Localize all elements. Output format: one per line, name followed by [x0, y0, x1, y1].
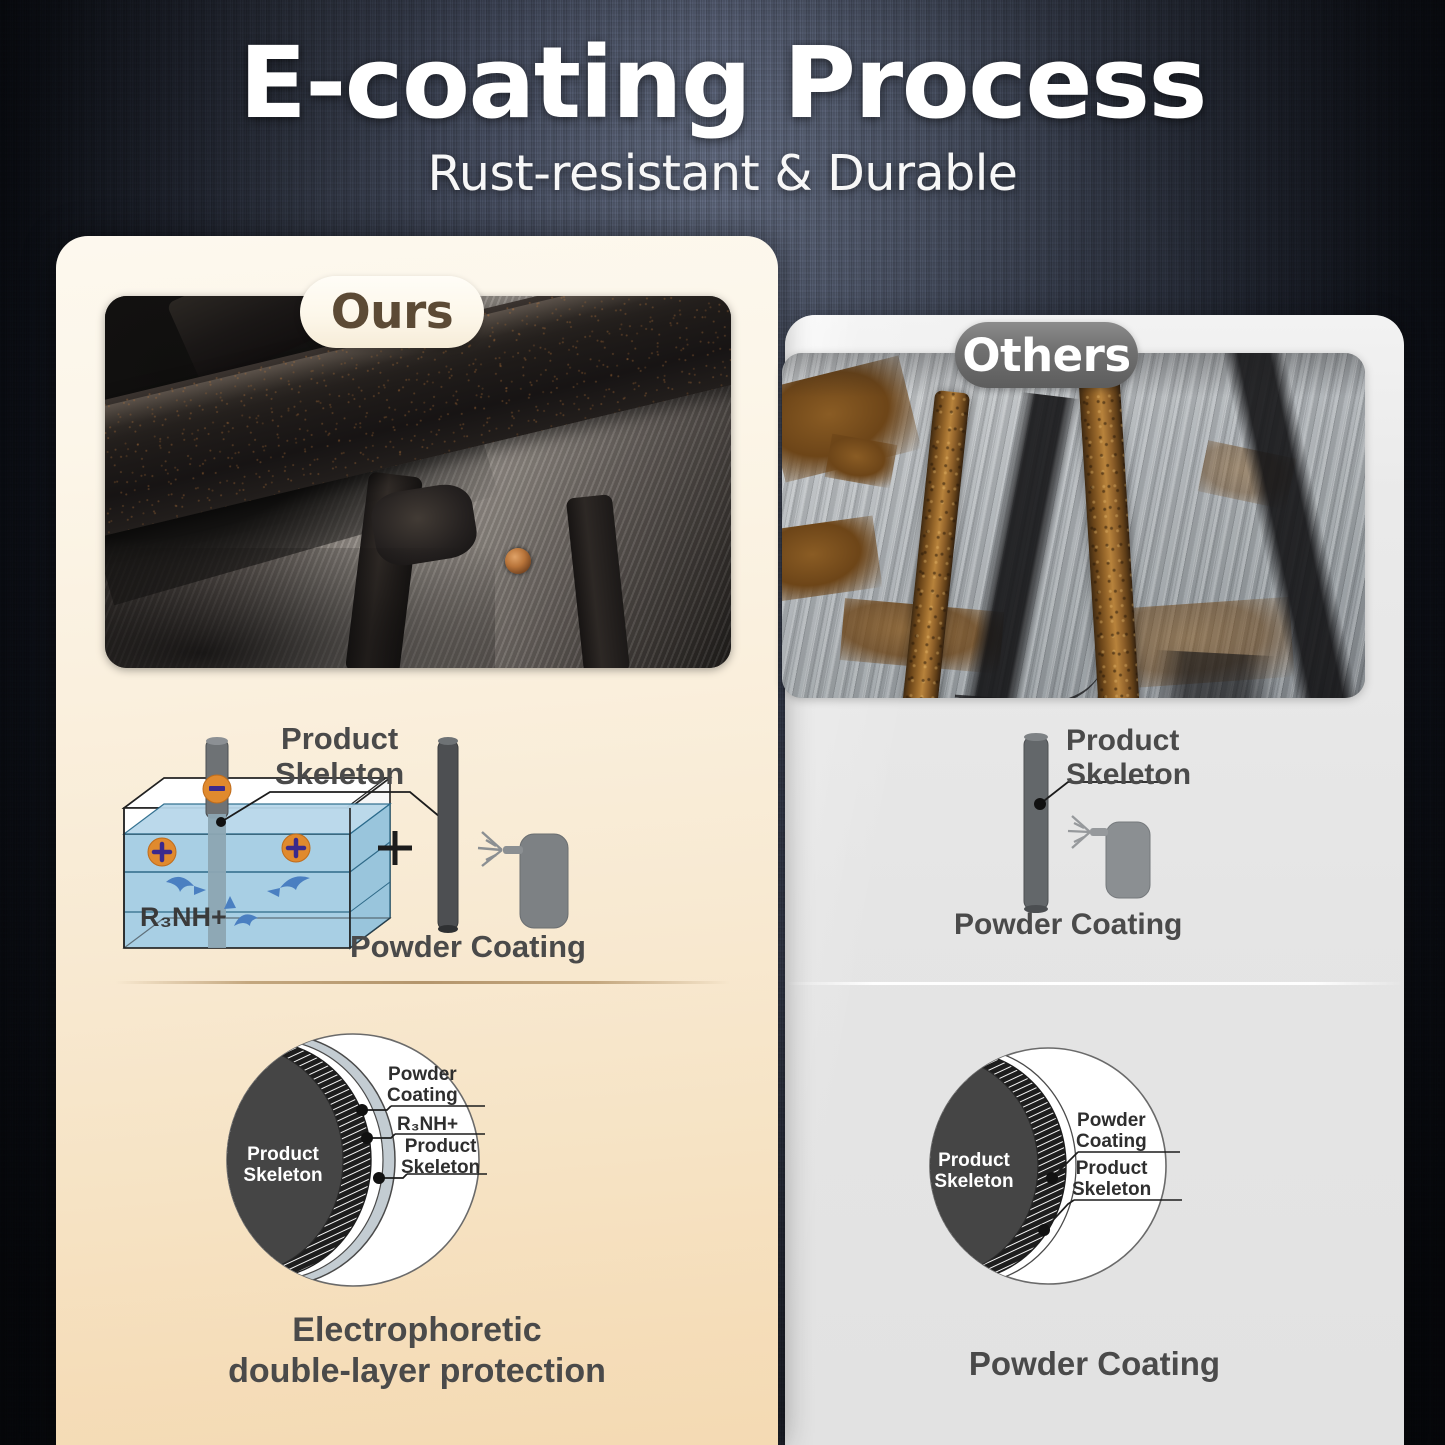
ours-skeleton-label: Product Skeleton [275, 722, 404, 791]
others-skeleton-label: Product Skeleton [1066, 724, 1191, 791]
tank-ion-label: R₃NH+ [140, 902, 227, 932]
header: E-coating Process Rust-resistant & Durab… [0, 0, 1445, 228]
ours-powder-label: Powder Coating [350, 930, 586, 965]
skeleton-rod-top-cap [438, 737, 458, 745]
divider-others [786, 982, 1402, 985]
others-spray-gun-body [1106, 822, 1150, 898]
caption-others: Powder Coating [785, 1344, 1404, 1384]
others-product-skeleton-rod [1024, 736, 1048, 910]
diagram-others-cross-section: Product Skeleton Powder Coating Product … [916, 1044, 1186, 1292]
others-section-callout-powder: Powder Coating [1076, 1110, 1147, 1153]
others-rod-top-cap [1024, 733, 1048, 741]
divider-ours [115, 981, 730, 984]
photo-others-shadow [1152, 650, 1275, 698]
diagram-others-powder-coating: Product Skeleton Powder Coating [940, 726, 1260, 956]
others-spray-lines [1068, 816, 1090, 848]
others-powder-label: Powder Coating [954, 908, 1182, 942]
ours-spray-nozzle [503, 846, 523, 854]
photo-others-wire [955, 598, 1112, 698]
ours-section-core-label: Product Skeleton [219, 1144, 347, 1187]
photo-ours-screw [505, 548, 531, 574]
others-section-callout-skeleton: Product Skeleton [1072, 1158, 1151, 1201]
others-spray-nozzle [1090, 828, 1108, 836]
ours-section-callout-skeleton: Product Skeleton [401, 1136, 480, 1179]
badge-others: Others [955, 322, 1138, 388]
page-subtitle: Rust-resistant & Durable [0, 145, 1445, 202]
leader-dot-left [216, 817, 226, 827]
badge-ours: Ours [300, 276, 484, 348]
ours-spray-gun-body [520, 834, 568, 928]
ours-section-callout-r3nh: R₃NH+ [397, 1114, 458, 1135]
diagram-ours-electrophoresis: R₃NH+ Product Skeleton Powder Coating [110, 722, 750, 980]
callout-dot-2 [361, 1132, 373, 1144]
page-title: E-coating Process [0, 34, 1445, 133]
ours-spray-lines [478, 832, 502, 866]
callout-dot-3 [373, 1172, 385, 1184]
photo-others-rusted-bars [782, 353, 1365, 698]
photo-ours-bottom-shade [105, 548, 495, 668]
others-section-core-label: Product Skeleton [910, 1150, 1038, 1193]
others-leader-dot [1034, 798, 1046, 810]
ours-section-callout-powder: Powder Coating [387, 1064, 458, 1107]
rod-top-cap [206, 737, 228, 745]
others-callout-dot-2 [1038, 1224, 1050, 1236]
callout-dot-1 [356, 1104, 368, 1116]
diagram-ours-cross-section: Product Skeleton Powder Coating R₃NH+ Pr… [215, 1032, 491, 1298]
ours-product-skeleton-rod [438, 740, 458, 930]
caption-ours: Electrophoretic double-layer protection [56, 1310, 778, 1392]
minus-sign [209, 786, 225, 791]
photo-ours-coated-tube [105, 296, 731, 668]
others-callout-dot-1 [1046, 1172, 1058, 1184]
